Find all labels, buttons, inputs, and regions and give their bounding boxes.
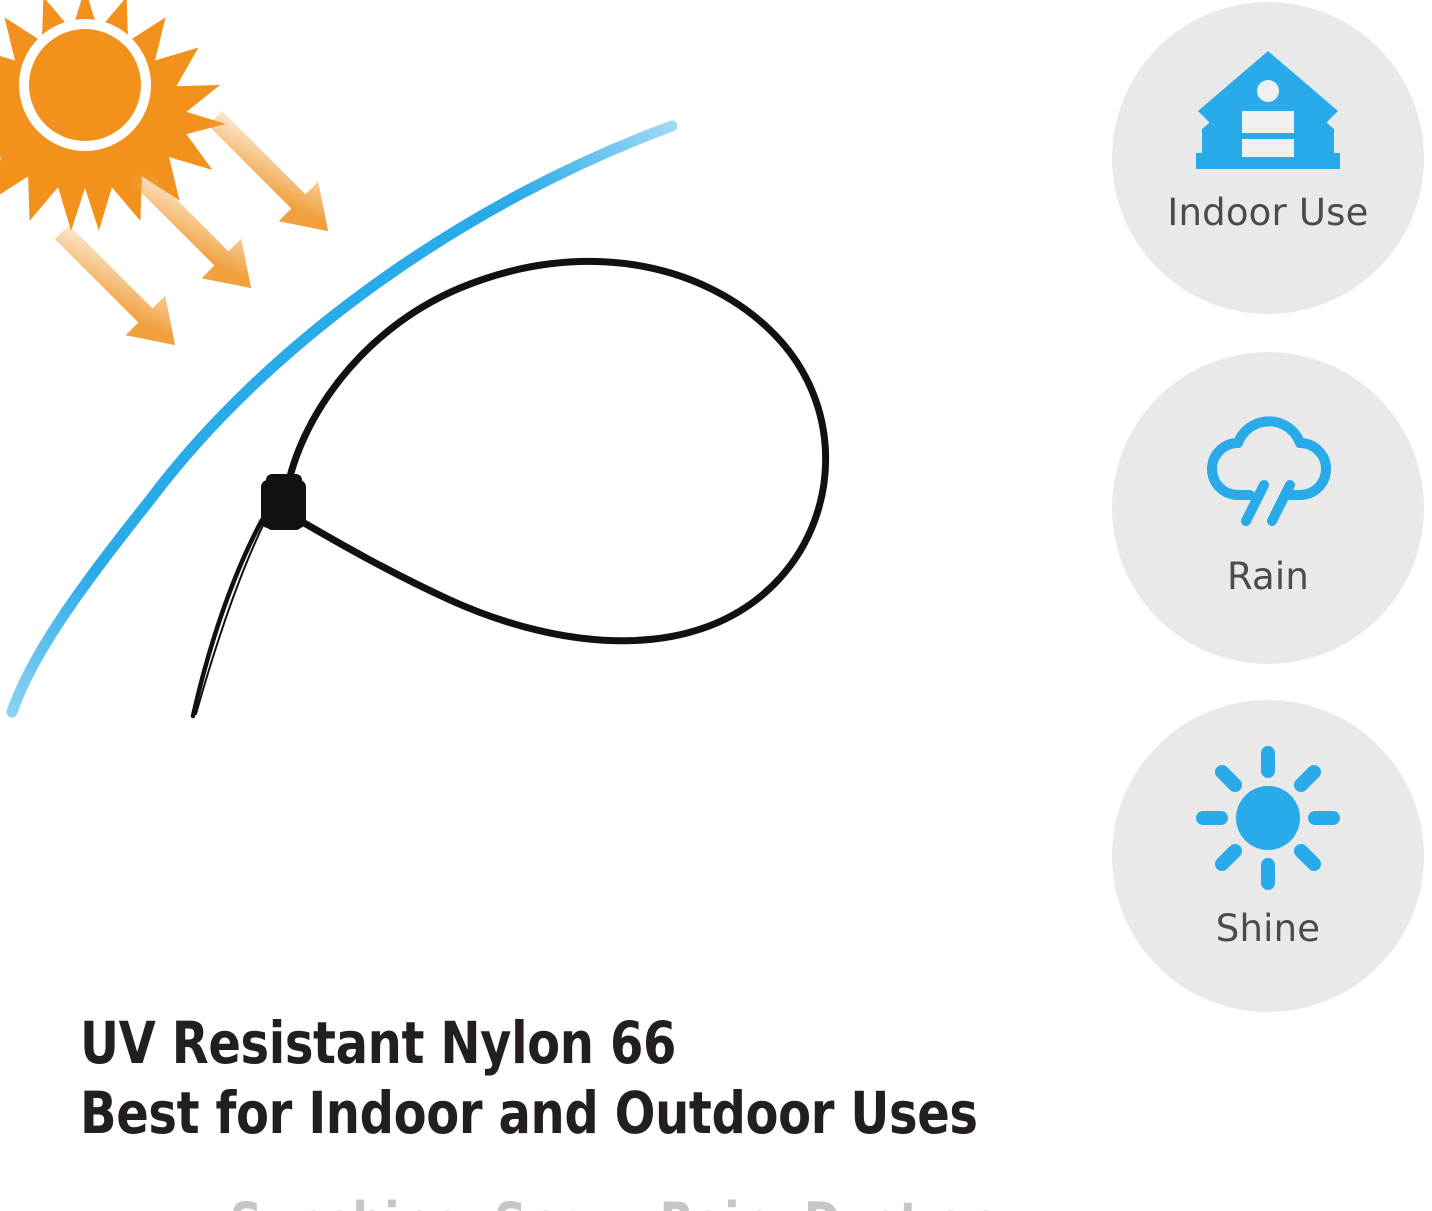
feature-badge-list: Indoor Use Rain <box>1104 0 1432 1020</box>
headline-line-2: Best for Indoor and Outdoor Uses <box>80 1078 1000 1148</box>
feature-badge-label: Indoor Use <box>1167 194 1368 231</box>
feature-badge-label: Shine <box>1216 910 1320 947</box>
rain-cloud-icon <box>1188 400 1348 536</box>
sun-icon <box>1188 748 1348 888</box>
clipped-footer-label: Sunshine, Snow, Rain, Dust and Extreme H… <box>230 1196 929 1211</box>
headline: UV Resistant Nylon 66 Best for Indoor an… <box>80 1008 1080 1148</box>
cable-tie-icon <box>193 261 826 716</box>
uv-shield-arc-icon <box>12 126 672 712</box>
feature-badge-rain[interactable]: Rain <box>1112 352 1424 664</box>
feature-badge-label: Rain <box>1227 558 1309 595</box>
feature-badge-shine[interactable]: Shine <box>1112 700 1424 1012</box>
headline-line-1: UV Resistant Nylon 66 <box>80 1008 1000 1078</box>
sun-burst-icon <box>0 0 226 231</box>
feature-badge-indoor-use[interactable]: Indoor Use <box>1112 2 1424 314</box>
clipped-footer-text: Sunshine, Snow, Rain, Dust and Extreme H… <box>230 1196 990 1211</box>
uv-protection-cable-tie-illustration <box>0 0 1060 1000</box>
product-infographic: Indoor Use Rain <box>0 0 1432 1211</box>
house-icon <box>1188 36 1348 186</box>
